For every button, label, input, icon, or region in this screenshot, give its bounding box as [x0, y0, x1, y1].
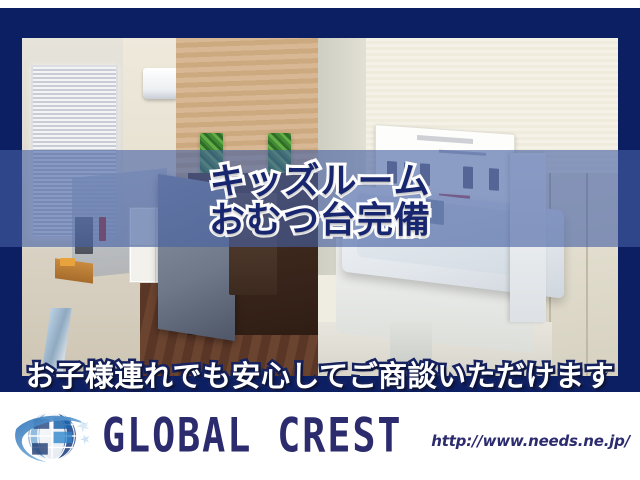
logo-wordmark: GLOBAL CREST — [102, 409, 402, 463]
photo-frame-panel: キッズルーム おむつ台完備 お子様連れでも安心してご商談いただけます — [0, 8, 640, 392]
placard-title-bar — [417, 135, 472, 144]
toy — [60, 258, 75, 265]
footer-bar: GLOBAL CREST http://www.needs.ne.jp/ — [0, 392, 640, 480]
website-url[interactable]: http://www.needs.ne.jp/ — [431, 432, 630, 450]
banner-image: キッズルーム おむつ台完備 お子様連れでも安心してご商談いただけます — [0, 0, 640, 480]
headline-line-1: キッズルーム — [210, 163, 431, 200]
headline-block: キッズルーム おむつ台完備 — [0, 151, 640, 251]
subline-text: お子様連れでも安心してご商談いただけます — [26, 353, 614, 392]
subline-block: お子様連れでも安心してご商談いただけます — [0, 353, 640, 392]
headline-line-2: おむつ台完備 — [209, 202, 431, 239]
air-conditioner — [143, 68, 179, 98]
globe-icon — [12, 403, 98, 469]
top-white-strip — [0, 0, 640, 8]
